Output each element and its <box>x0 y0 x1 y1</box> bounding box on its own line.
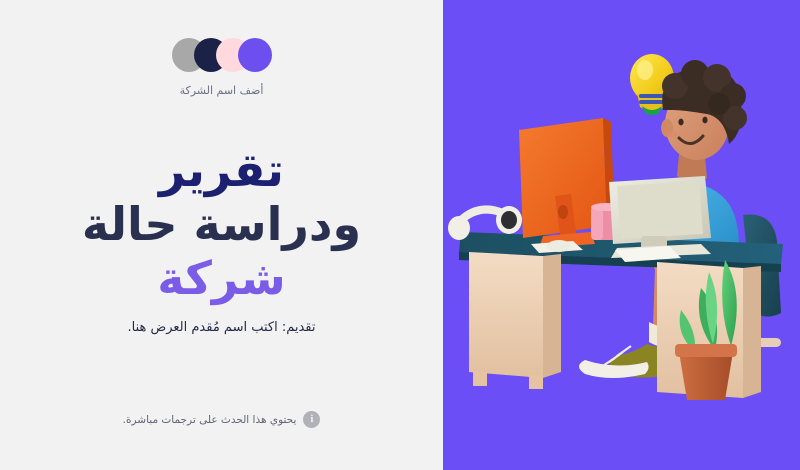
workspace-illustration <box>443 0 800 470</box>
mouse <box>547 240 571 252</box>
live-captions-text: يحتوي هذا الحدث على ترجمات مباشرة. <box>123 414 297 426</box>
title-line-2: ودراسة حالة <box>0 197 443 251</box>
logo-block: أضف اسم الشركة <box>0 38 443 97</box>
live-captions-note: i يحتوي هذا الحدث على ترجمات مباشرة. <box>0 411 443 428</box>
title-line-3: شركة <box>0 251 443 305</box>
company-name-placeholder[interactable]: أضف اسم الشركة <box>0 84 443 97</box>
purple-dot-icon <box>238 38 272 72</box>
presentation-slide: أضف اسم الشركة تقرير ودراسة حالة شركة تق… <box>0 0 800 470</box>
illustration-panel <box>443 0 800 470</box>
left-content-panel: أضف اسم الشركة تقرير ودراسة حالة شركة تق… <box>0 0 443 470</box>
info-icon: i <box>303 411 320 428</box>
title-line-1: تقرير <box>0 143 443 197</box>
logo-circles <box>172 38 272 72</box>
presenter-subtitle[interactable]: تقديم: اكتب اسم مُقدم العرض هنا. <box>0 320 443 335</box>
info-icon-glyph: i <box>310 414 313 425</box>
page-title: تقرير ودراسة حالة شركة <box>0 143 443 305</box>
